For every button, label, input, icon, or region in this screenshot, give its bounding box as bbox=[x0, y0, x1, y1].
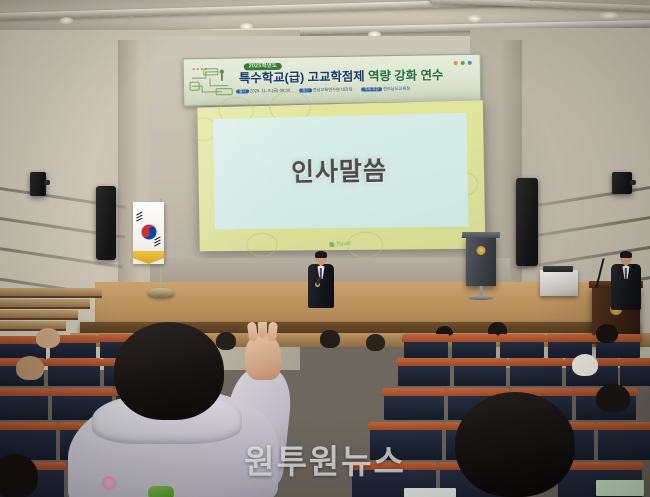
auditorium-seat[interactable] bbox=[454, 362, 506, 386]
projection-screen: 인사말씀 전남교육 bbox=[197, 100, 485, 251]
finger bbox=[267, 322, 278, 341]
banner-dot-group bbox=[454, 61, 472, 65]
ceiling-downlight bbox=[468, 15, 481, 22]
ceiling-downlight bbox=[600, 12, 618, 19]
auditorium-seat[interactable] bbox=[510, 362, 562, 386]
banner-dot bbox=[461, 61, 465, 65]
attendee-raised-hand bbox=[245, 334, 281, 380]
banner-sub-item: 주최·주관 전라남도교육청 bbox=[362, 87, 411, 93]
finger bbox=[247, 322, 259, 342]
attendee-head bbox=[596, 384, 630, 412]
lectern-emblem-icon bbox=[477, 246, 486, 255]
lectern-top-surface bbox=[462, 232, 501, 238]
seat-wood-trim bbox=[350, 462, 438, 470]
speaker-bracket bbox=[44, 180, 50, 185]
presenter-hair bbox=[315, 251, 327, 258]
podium-speaker-tie bbox=[625, 268, 627, 279]
finger bbox=[258, 322, 267, 338]
banner-title-main: 특수학교(급) 고교학점제 bbox=[239, 69, 365, 85]
stage-step bbox=[0, 299, 90, 309]
seat-wood-trim bbox=[596, 422, 650, 430]
banner-dot bbox=[454, 61, 458, 65]
seat-wood-trim bbox=[396, 358, 452, 366]
seat-backrest bbox=[598, 426, 650, 460]
seat-wood-trim bbox=[546, 334, 594, 342]
attendee-head bbox=[455, 392, 575, 497]
slide-logo-label: 전남교육 bbox=[336, 241, 351, 247]
ceiling-downlight bbox=[240, 23, 253, 30]
wall-speaker-icon bbox=[612, 172, 632, 194]
attendee-head bbox=[596, 324, 618, 343]
stage-lectern bbox=[466, 236, 496, 286]
seat-backrest bbox=[384, 392, 444, 420]
handout-paper bbox=[596, 480, 644, 496]
audience-seating bbox=[0, 322, 650, 497]
auditorium-seat[interactable] bbox=[404, 338, 448, 358]
seat-wood-trim bbox=[498, 334, 546, 342]
auditorium-seat[interactable] bbox=[398, 362, 450, 386]
flag-base bbox=[148, 288, 174, 297]
stage-step bbox=[0, 288, 102, 298]
podium-speaker bbox=[610, 252, 642, 312]
seat-wood-trim bbox=[368, 422, 444, 430]
auditorium-seat[interactable] bbox=[598, 426, 650, 460]
banner-sub-text: 전라남도교육청 bbox=[383, 86, 410, 91]
banner-subline: 일시 2025. 11. 8.(금) 09:30 장소 전남교육연수원 대강당 … bbox=[236, 86, 476, 95]
slide-footer-logo: 전남교육 bbox=[329, 241, 351, 247]
attendee-head bbox=[320, 330, 340, 348]
attendee-badge-pin bbox=[102, 476, 116, 490]
banner-year-pill: 2025학년도 bbox=[244, 63, 282, 71]
attendee-head bbox=[366, 334, 385, 351]
stage-step bbox=[0, 310, 78, 320]
floor-speaker-tower bbox=[96, 186, 116, 260]
handout-paper bbox=[404, 488, 456, 497]
auditorium-seat[interactable] bbox=[452, 338, 496, 358]
seat-wood-trim bbox=[452, 358, 508, 366]
auditorium-seat[interactable] bbox=[500, 338, 544, 358]
lectern-foot bbox=[468, 296, 494, 300]
seat-backrest bbox=[370, 426, 442, 460]
auditorium-seat[interactable] bbox=[620, 362, 650, 386]
seat-wood-trim bbox=[508, 358, 564, 366]
korean-flag-icon bbox=[133, 202, 164, 264]
banner-sub-tag: 장소 bbox=[299, 88, 312, 92]
seat-wood-trim bbox=[402, 334, 450, 342]
leaf-icon bbox=[329, 242, 334, 247]
photo-canvas: 2025학년도 특수학교(급) 고교학점제 역량 강화 연수 일시 2025. … bbox=[0, 0, 650, 497]
banner-dot bbox=[468, 61, 472, 65]
seat-wood-trim bbox=[450, 334, 498, 342]
banner-sub-tag: 주최·주관 bbox=[362, 87, 382, 91]
auditorium-seat[interactable] bbox=[384, 392, 444, 420]
av-equipment-box bbox=[540, 270, 578, 296]
attendee-foreground-head bbox=[455, 392, 585, 497]
seat-wood-trim bbox=[382, 388, 446, 396]
banner-decoration-graphic bbox=[188, 63, 241, 100]
speaker-bracket bbox=[630, 180, 636, 185]
screen-decor-circle bbox=[246, 233, 278, 257]
attendee-green-item bbox=[148, 486, 174, 497]
flag-fringe bbox=[133, 251, 164, 264]
banner-sub-item: 장소 전남교육연수원 대강당 bbox=[299, 88, 353, 94]
seat-wood-trim bbox=[618, 358, 650, 366]
banner-sub-tag: 일시 bbox=[236, 89, 249, 93]
banner-title: 특수학교(급) 고교학점제 역량 강화 연수 bbox=[239, 69, 477, 85]
screen-decor-circle bbox=[347, 232, 384, 258]
ceiling-downlight bbox=[60, 17, 73, 24]
slide-title-text: 인사말씀 bbox=[214, 149, 468, 190]
attendee-head bbox=[114, 322, 224, 420]
auditorium-seat[interactable] bbox=[370, 426, 442, 460]
presenter-with-microphone bbox=[304, 252, 338, 308]
banner-title-accent: 역량 강화 연수 bbox=[368, 68, 443, 83]
floor-speaker-tower bbox=[516, 178, 538, 266]
podium-speaker-hair bbox=[620, 251, 632, 258]
attendee-head bbox=[572, 354, 598, 376]
banner-sub-text: 전남교육연수원 대강당 bbox=[313, 87, 353, 93]
av-box-top-panel bbox=[543, 266, 573, 272]
slide-content-area: 인사말씀 bbox=[213, 113, 469, 230]
attendee-raising-hand bbox=[30, 330, 290, 497]
